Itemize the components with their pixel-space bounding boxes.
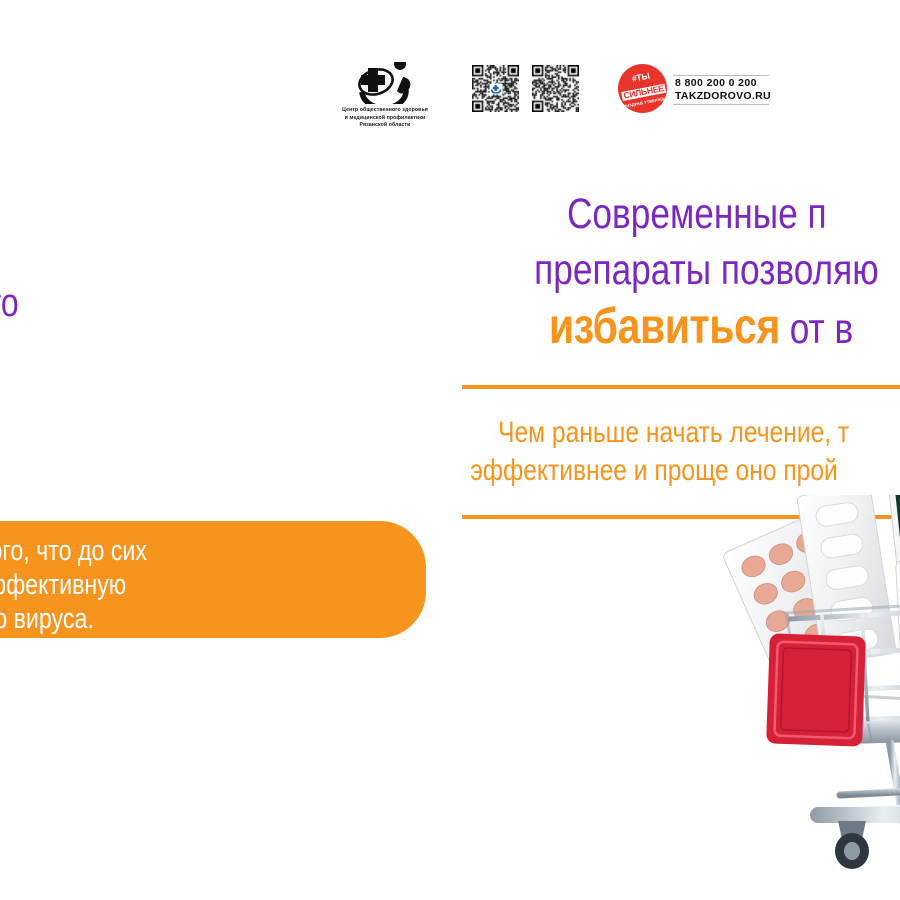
subtext-line-2: эффективнее и проще оно прой xyxy=(462,452,900,490)
left-headline: ...пособен ...к быстро, что ...зает его xyxy=(0,218,139,389)
left-orange-callout: ...ляется причиной того, что до сих ...у… xyxy=(0,521,426,638)
slide-canvas: Центр общественного здоровья и медицинск… xyxy=(0,0,900,900)
left-column: ...пособен ...к быстро, что ...зает его xyxy=(0,218,225,389)
organization-name: Центр общественного здоровья и медицинск… xyxy=(330,107,440,130)
contact-phone[interactable]: 8 800 200 0 200 xyxy=(673,76,771,90)
shopping-cart-with-medicines: Металлическая тележка для покупок, напол… xyxy=(690,495,900,875)
health-cross-person-logo-icon xyxy=(356,62,414,104)
qr-code-group xyxy=(472,65,579,112)
contact-block: 8 800 200 0 200 TAKZDOROVO.RU xyxy=(673,73,771,105)
badge-ty: ТЫ xyxy=(635,70,650,82)
divider-top xyxy=(462,385,900,389)
right-column: Современные п препараты позволяю избавит… xyxy=(462,186,900,357)
right-subtext: Чем раньше начать лечение, т эффективнее… xyxy=(462,414,900,490)
campaign-contact-block: #ТЫ СИЛЬНЕЕ МИНЗДРАВ УТВЕРЖДАЕТ 8 800 20… xyxy=(618,64,771,113)
health-mark-icon xyxy=(489,83,502,94)
ty-silnee-badge[interactable]: #ТЫ СИЛЬНЕЕ МИНЗДРАВ УТВЕРЖДАЕТ xyxy=(618,64,667,113)
headline-line-1: Современные п xyxy=(462,186,900,242)
qr-code-right[interactable] xyxy=(532,65,579,112)
organization-logo: Центр общественного здоровья и медицинск… xyxy=(330,62,440,130)
header-bar: Центр общественного здоровья и медицинск… xyxy=(330,62,800,142)
headline-highlight: избавиться xyxy=(549,298,780,354)
right-headline: Современные п препараты позволяю избавит… xyxy=(462,186,900,357)
headline-line-3-rest: от в xyxy=(780,305,853,353)
subtext-line-1: Чем раньше начать лечение, т xyxy=(462,414,900,452)
contact-divider-bottom xyxy=(673,104,769,105)
contact-website[interactable]: TAKZDOROVO.RU xyxy=(673,90,771,104)
left-callout-text: ...ляется причиной того, что до сих ...у… xyxy=(0,534,300,636)
headline-line-3: избавиться от в xyxy=(462,298,900,357)
qr-code-left[interactable] xyxy=(472,65,519,112)
headline-line-2: препараты позволяю xyxy=(462,242,900,298)
